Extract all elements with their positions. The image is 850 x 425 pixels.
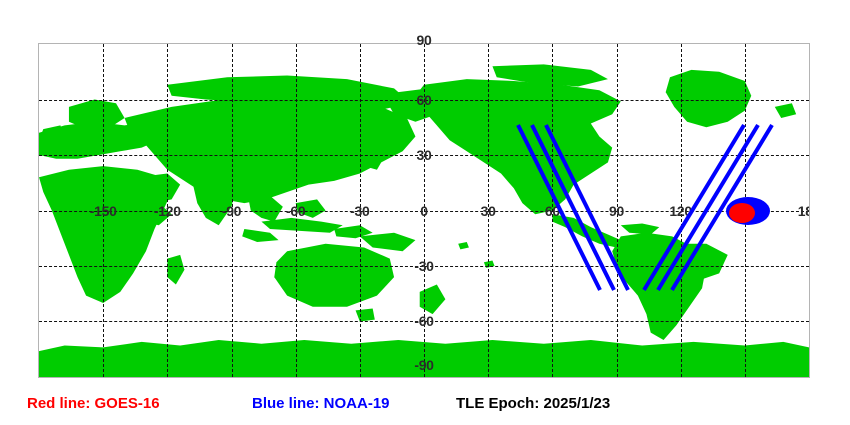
legend-entry-noaa19: Blue line: NOAA-19: [252, 393, 390, 415]
legend: Red line: GOES-16 Blue line: NOAA-19 TLE…: [0, 393, 850, 423]
satellite-groundtrack-map: 60 30 0 -30 -60 -90 -30 30 60 90 120 150…: [0, 0, 850, 425]
world-map-panel[interactable]: 60 30 0 -30 -60 -90 -30 30 60 90 120 150…: [38, 43, 810, 378]
world-landmass-layer: [39, 44, 809, 377]
lat-label-90: 90: [417, 32, 432, 48]
legend-entry-goes16: Red line: GOES-16: [27, 393, 160, 415]
legend-entry-tle-epoch: TLE Epoch: 2025/1/23: [456, 393, 610, 415]
